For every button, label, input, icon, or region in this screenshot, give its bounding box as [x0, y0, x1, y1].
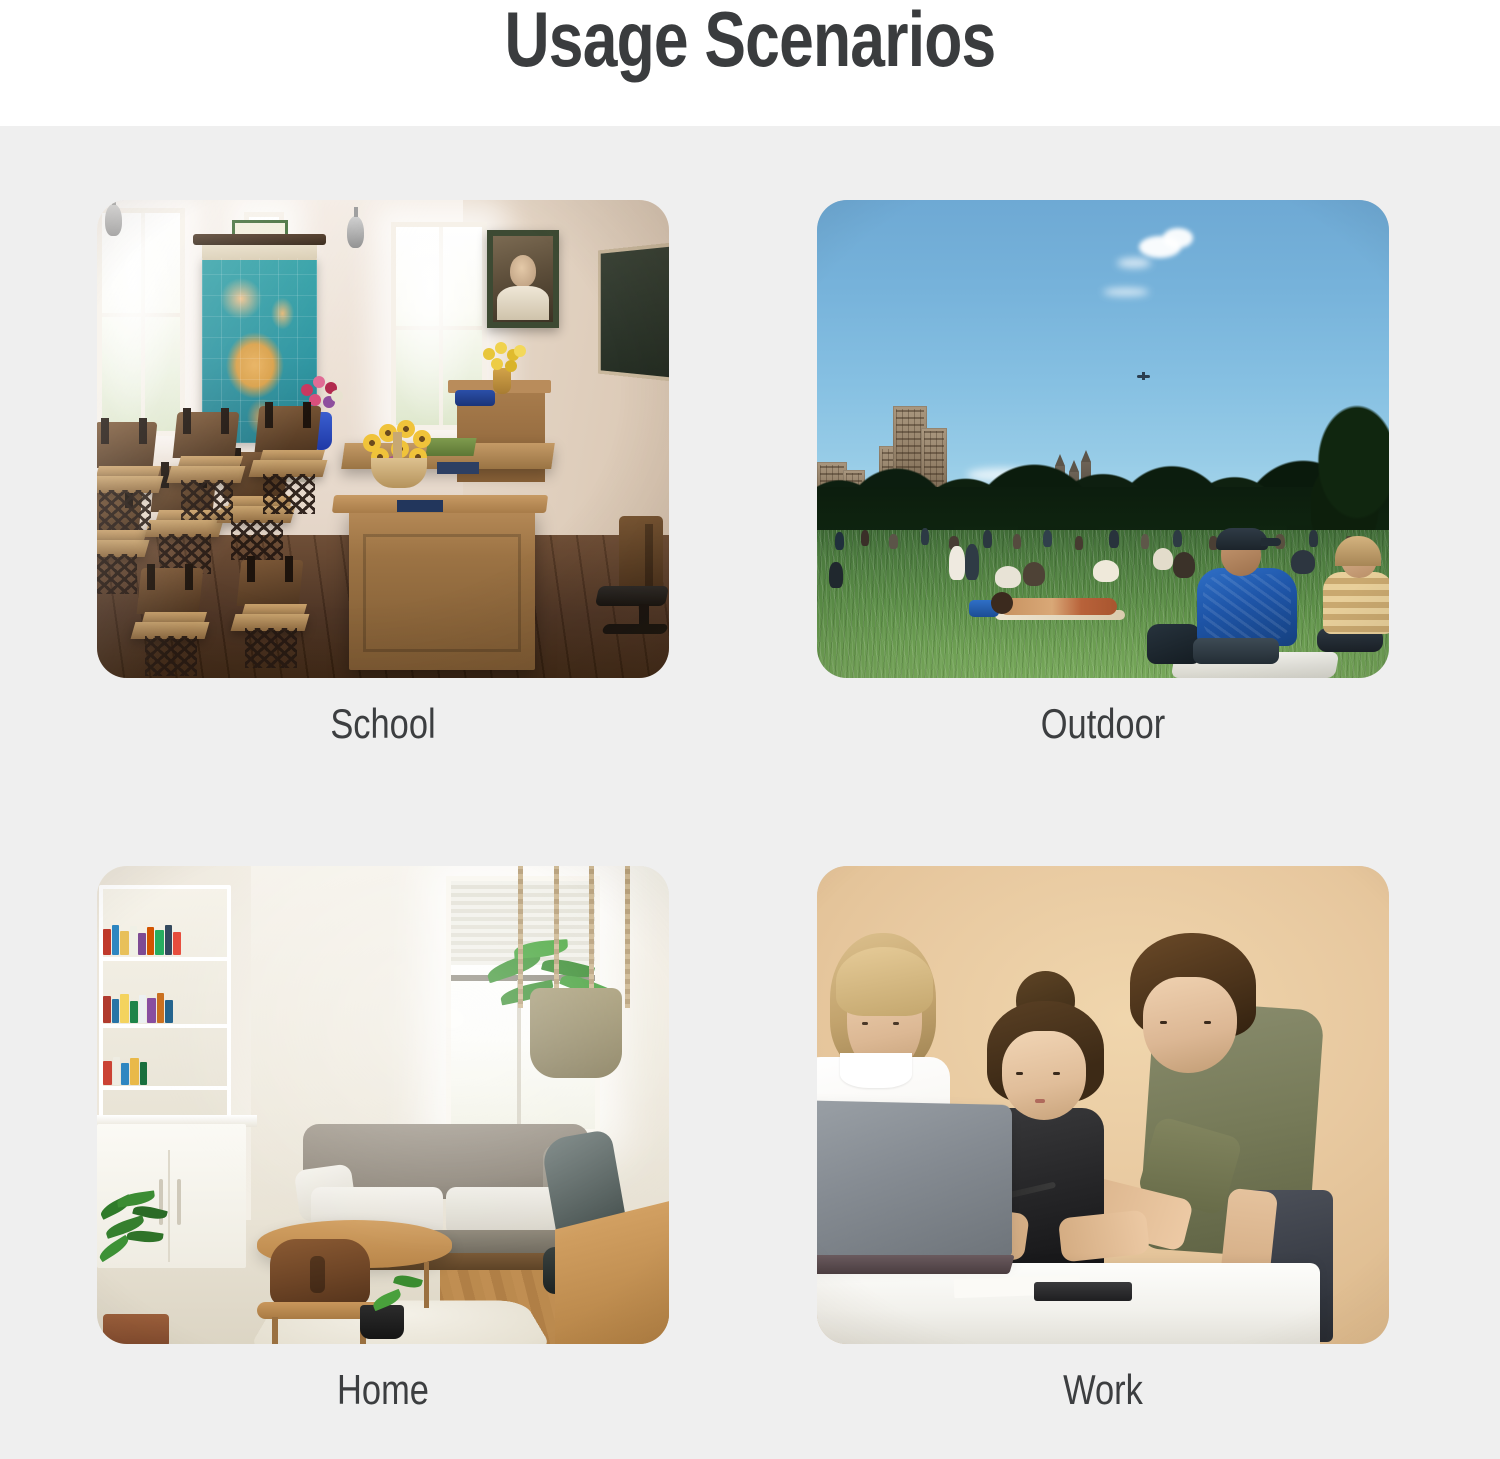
park-person-sitting: [1023, 562, 1045, 586]
blue-book-stack: [437, 462, 479, 474]
laptop: [817, 1105, 1011, 1277]
park-person: [1043, 530, 1052, 547]
woman-in-striped-top: [1323, 540, 1389, 656]
card-label-work: Work: [868, 1366, 1337, 1414]
park-person: [889, 534, 898, 549]
park-person-standing: [829, 562, 843, 588]
baseball-cap: [1216, 528, 1268, 550]
scenario-card-work[interactable]: Work: [817, 866, 1389, 1414]
sunflower-basket: [355, 418, 441, 488]
wall-lamp-right: [347, 216, 364, 248]
scenario-card-outdoor[interactable]: Outdoor: [817, 200, 1389, 748]
bookshelf: [99, 885, 231, 1124]
park-person-sitting: [1153, 548, 1173, 570]
park-person-sitting: [1093, 560, 1119, 582]
macrame-hanging-planter: [503, 866, 652, 1113]
floor-plant-left: [97, 1191, 234, 1344]
park-person: [1075, 536, 1083, 550]
outdoor-park-photo[interactable]: [817, 200, 1389, 678]
park-person: [835, 532, 844, 550]
yellow-flowers: [481, 342, 525, 374]
park-person: [1109, 530, 1119, 548]
laptop-screen: [817, 1100, 1011, 1261]
school-classroom-photo[interactable]: [97, 200, 669, 678]
teacher-chair: [585, 516, 663, 636]
park-person-standing: [949, 546, 965, 580]
park-person-lying: [977, 592, 1129, 618]
scenario-card-home[interactable]: Home: [97, 866, 669, 1414]
park-person-sitting: [995, 566, 1021, 588]
card-label-home: Home: [148, 1366, 617, 1414]
scenario-card-school[interactable]: School: [97, 200, 669, 748]
card-label-outdoor: Outdoor: [868, 700, 1337, 748]
home-living-room-photo[interactable]: [97, 866, 669, 1344]
work-team-photo[interactable]: [817, 866, 1389, 1344]
park-person: [861, 530, 869, 546]
park-person: [1013, 534, 1021, 549]
book-stack-navy: [397, 500, 443, 512]
park-person: [1141, 534, 1149, 549]
man-in-blue-shirt: [1191, 528, 1303, 668]
teacher-desk: [349, 508, 535, 670]
framed-portrait: [487, 230, 559, 328]
blue-bag: [455, 390, 495, 406]
park-person-standing: [965, 544, 979, 580]
park-person: [1173, 530, 1182, 547]
park-person: [1309, 530, 1318, 547]
chalkboard: [598, 242, 669, 382]
header-band: Usage Scenarios: [0, 0, 1500, 126]
usage-scenarios-page: Usage Scenarios: [0, 0, 1500, 1459]
page-title: Usage Scenarios: [150, 0, 1350, 85]
classroom-window-left: [97, 208, 185, 436]
card-label-school: School: [148, 700, 617, 748]
small-black-pot: [360, 1305, 404, 1339]
park-person: [983, 530, 992, 548]
wall-lamp-left: [105, 204, 122, 236]
park-person: [921, 528, 929, 545]
smartphone: [1034, 1282, 1131, 1301]
